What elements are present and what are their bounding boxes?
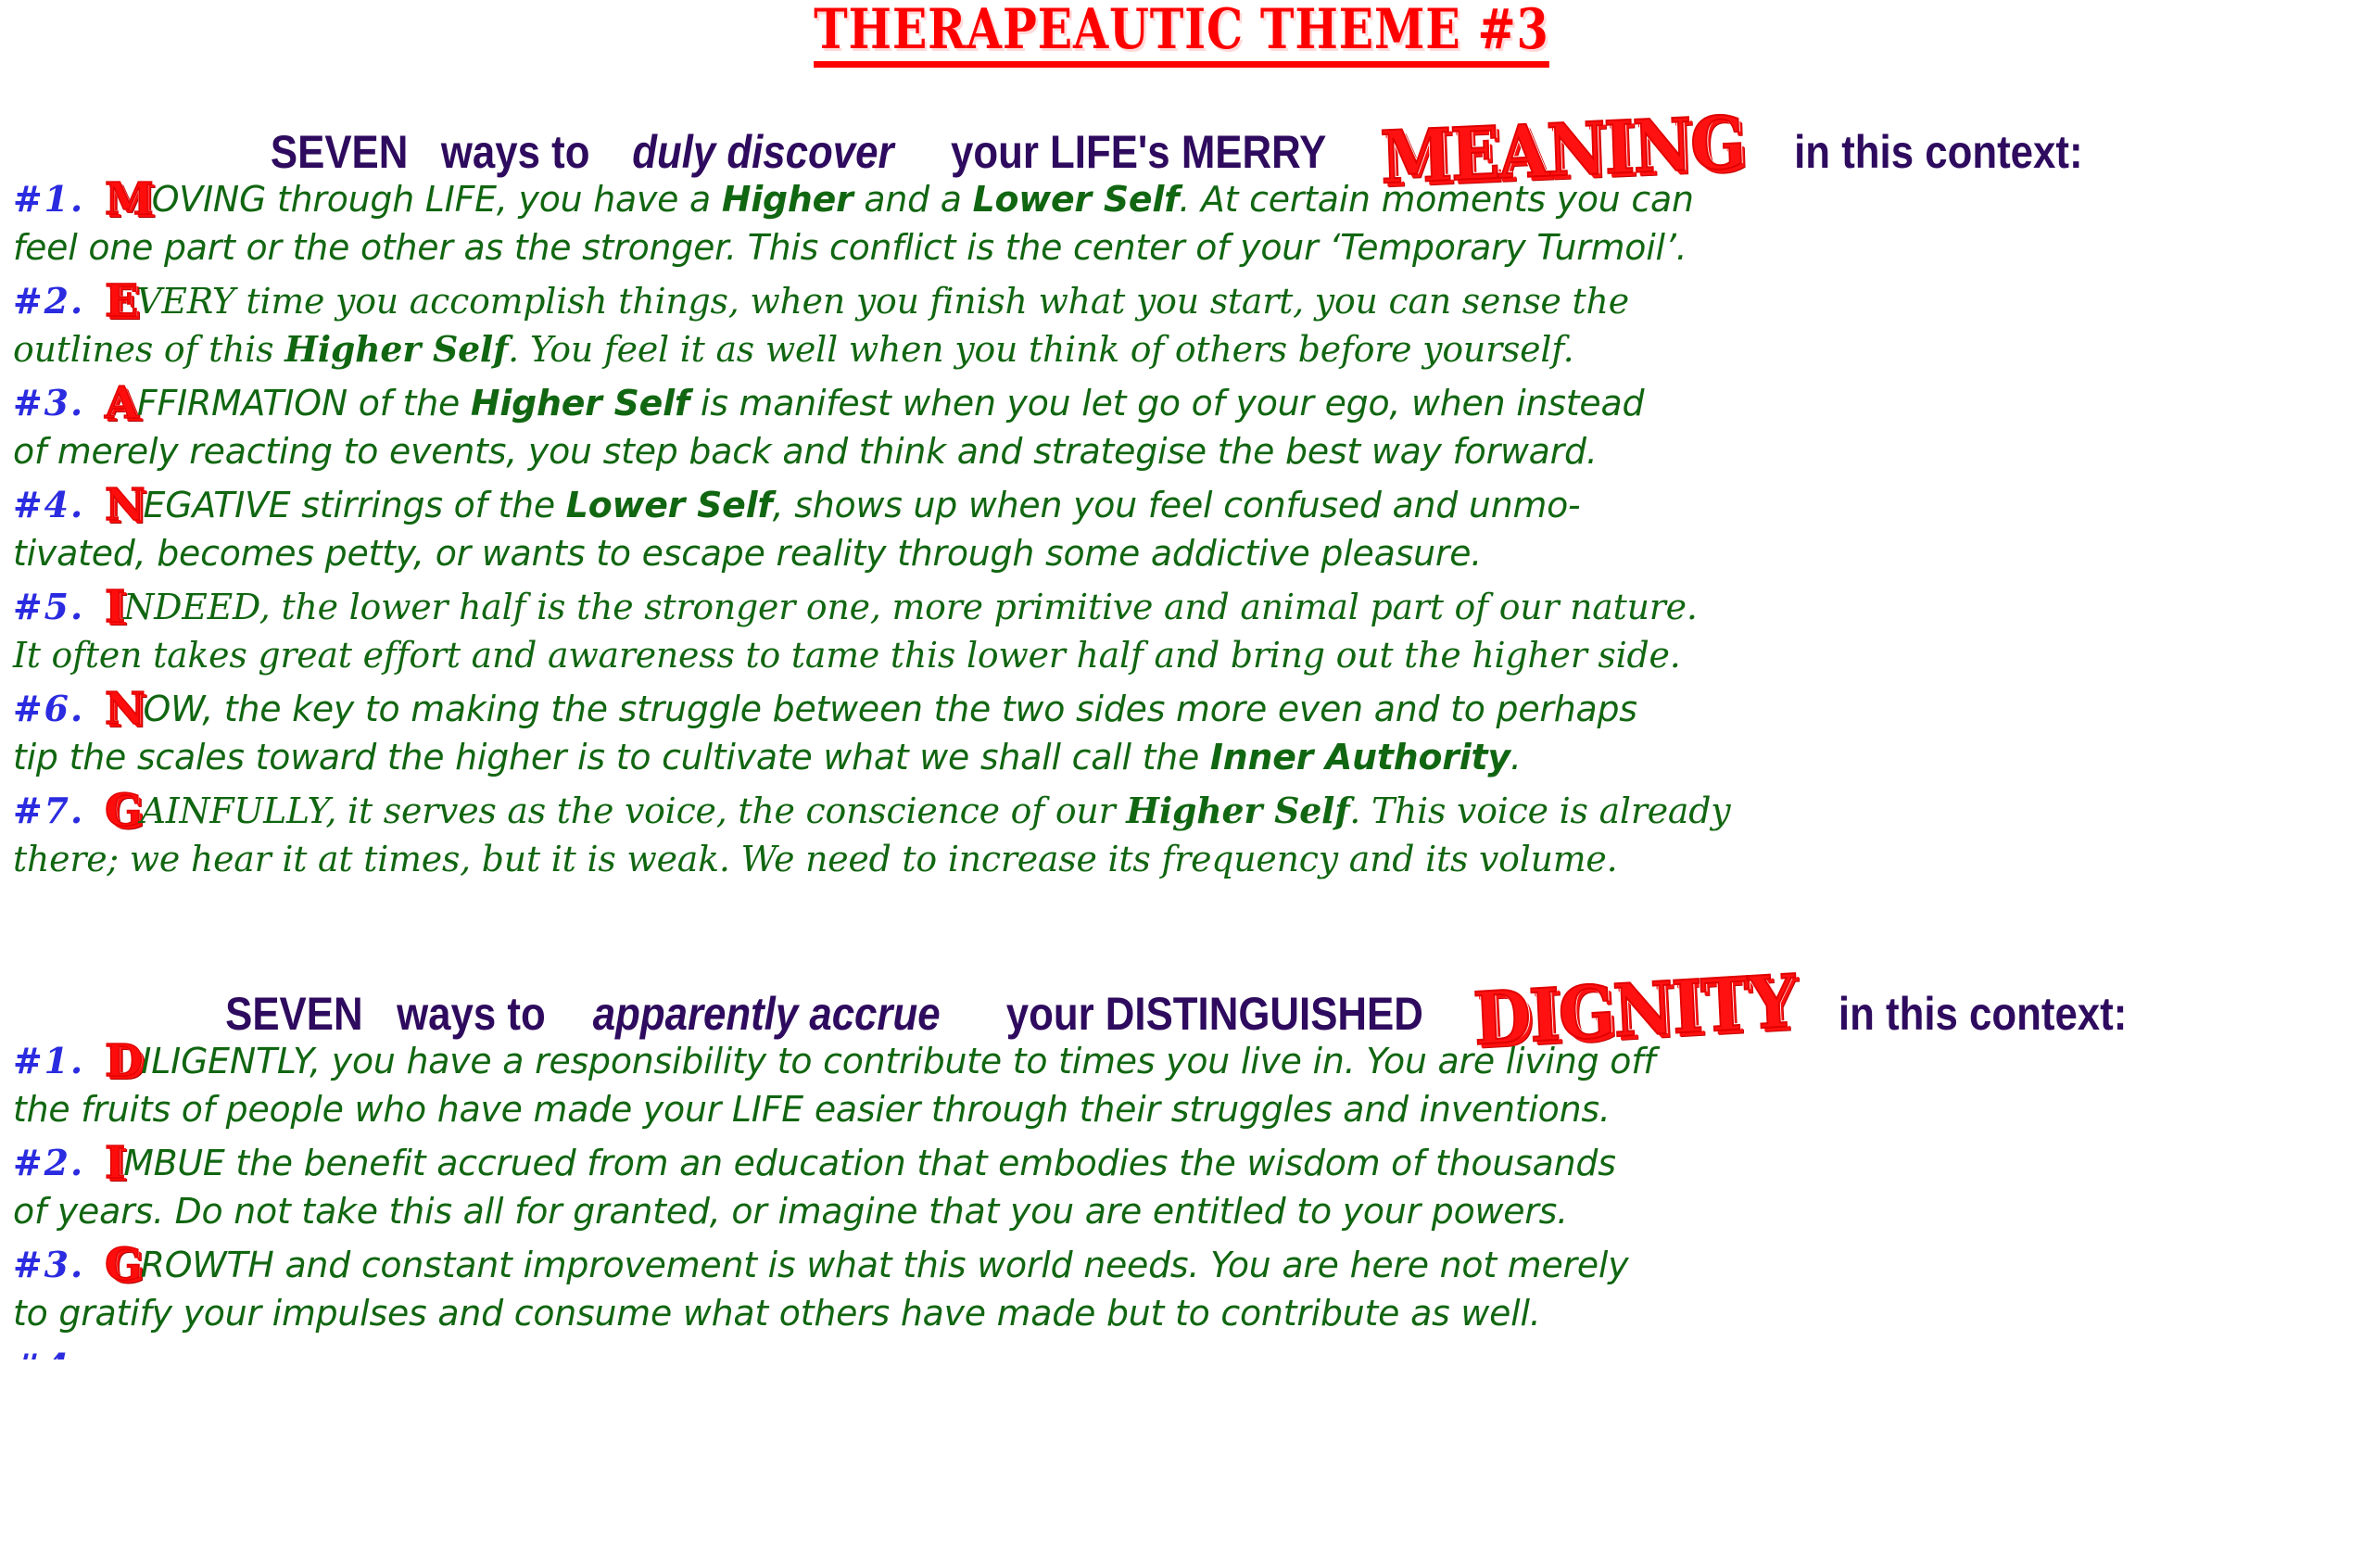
section1-heading-emphasis: duly discover (632, 129, 893, 175)
list-item-number: #5. (13, 586, 105, 627)
list-item-line: tivated, becomes petty, or wants to esca… (13, 529, 1482, 577)
list-item-line: #6.NOW, the key to making the struggle b… (13, 685, 1637, 733)
title-row: THERAPEAUTIC THEME #3 (13, 0, 2350, 68)
list-item: #1.DILIGENTLY, you have a responsibility… (13, 1037, 2350, 1133)
section2-heading: SEVEN ways to apparently accrue your DIS… (19, 952, 2344, 1037)
list-item: #4.NEGATIVE stirrings of the Lower Self,… (13, 481, 2350, 577)
list-item: #2.EVERY time you accomplish things, whe… (13, 277, 2350, 373)
emphasis: Higher Self (1126, 790, 1349, 831)
list-item-text: of merely reacting to events, you step b… (13, 431, 1598, 472)
list-item-text: FFIRMATION of the Higher Self is manifes… (137, 383, 1644, 424)
list-item-line: the fruits of people who have made your … (13, 1085, 1611, 1133)
section2-heading-part2: ways to (397, 991, 546, 1037)
list-item-dropcap: G (105, 1246, 143, 1283)
list-item-text: NDEED, the lower half is the stronger on… (123, 587, 1697, 627)
list-item-dropcap: D (105, 1043, 143, 1080)
list-item-line: #1.MOVING through LIFE, you have a Highe… (13, 175, 1694, 223)
list-item-number: #2. (13, 1142, 105, 1183)
list-item-text: there; we hear it at times, but it is we… (13, 839, 1617, 879)
emphasis: Higher Self (471, 383, 689, 424)
list-item-dropcap: N (105, 487, 145, 524)
list-item-number: #4. (13, 1346, 105, 1359)
section1-heading-part4: your LIFE's MERRY (951, 129, 1326, 175)
list-item-dropcap: E (105, 283, 138, 320)
list-item: #1.MOVING through LIFE, you have a Highe… (13, 175, 2350, 272)
list-item-text: AINFULLY, it serves as the voice, the co… (141, 790, 1731, 831)
section2-heading-emphasis: apparently accrue (593, 991, 941, 1037)
list-item-text: tivated, becomes petty, or wants to esca… (13, 533, 1482, 574)
list-item-line: #2.IMBUE the benefit accrued from an edu… (13, 1139, 1616, 1187)
poster-page: THERAPEAUTIC THEME #3 SEVEN ways to duly… (0, 0, 2363, 1568)
list-item-dropcap: G (105, 792, 143, 829)
list-item-text: It often takes great effort and awarenes… (13, 635, 1681, 676)
emphasis: Higher Self (284, 328, 508, 370)
list-item-text: VERY time you accomplish things, when yo… (136, 281, 1629, 322)
list-item-dropcap: N (105, 690, 145, 727)
list-item-text: of years. Do not take this all for grant… (13, 1191, 1568, 1232)
section1-list: #1.MOVING through LIFE, you have a Highe… (13, 175, 2350, 883)
list-item-number: #1. (13, 1040, 105, 1081)
list-item-line: #4. (13, 1343, 105, 1359)
emphasis: Higher (722, 179, 853, 220)
list-item-dropcap: I (105, 588, 125, 626)
list-item-line: #4.NEGATIVE stirrings of the Lower Self,… (13, 481, 1580, 529)
list-item-text: OVING through LIFE, you have a Higher an… (152, 179, 1694, 220)
section2-heading-part5: in this context: (1839, 991, 2127, 1037)
list-item-line: #3.AFFIRMATION of the Higher Self is man… (13, 379, 1644, 427)
list-item-line: of merely reacting to events, you step b… (13, 427, 1598, 475)
list-item-text: outlines of this Higher Self. You feel i… (13, 329, 1574, 370)
list-item-line: feel one part or the other as the strong… (13, 223, 1687, 272)
list-item-line: of years. Do not take this all for grant… (13, 1187, 1568, 1235)
list-item-line: #2.EVERY time you accomplish things, whe… (13, 277, 1629, 325)
emphasis: Lower Self (566, 485, 773, 525)
list-item-number: #6. (13, 688, 105, 729)
list-item: #6.NOW, the key to making the struggle b… (13, 685, 2350, 781)
list-item-line: #7.GAINFULLY, it serves as the voice, th… (13, 787, 1730, 835)
section-divider-space (13, 883, 2350, 915)
list-item-number: #7. (13, 790, 105, 831)
list-item-text: the fruits of people who have made your … (13, 1089, 1611, 1130)
list-item-dropcap: A (105, 385, 139, 422)
list-item-number: #4. (13, 484, 105, 525)
section1-heading: SEVEN ways to duly discover your LIFE's … (19, 90, 2344, 175)
list-item-line: #5.INDEED, the lower half is the stronge… (13, 583, 1698, 631)
list-item-line: there; we hear it at times, but it is we… (13, 835, 1617, 883)
list-item: #2.IMBUE the benefit accrued from an edu… (13, 1139, 2350, 1235)
section2-list: #1.DILIGENTLY, you have a responsibility… (13, 1037, 2350, 1359)
list-item-line: #1.DILIGENTLY, you have a responsibility… (13, 1037, 1655, 1085)
list-item-line: to gratify your impulses and consume wha… (13, 1289, 1541, 1337)
list-item: #7.GAINFULLY, it serves as the voice, th… (13, 787, 2350, 883)
emphasis: Lower Self (973, 179, 1180, 220)
list-item-text: EGATIVE stirrings of the Lower Self, sho… (144, 485, 1581, 525)
list-item-line: It often takes great effort and awarenes… (13, 631, 1681, 679)
section2-heading-part4: your DISTINGUISHED (1006, 991, 1423, 1037)
list-item: #4. (13, 1343, 2350, 1359)
list-item-number: #1. (13, 178, 105, 220)
list-item: #5.INDEED, the lower half is the stronge… (13, 583, 2350, 679)
list-item-line: outlines of this Higher Self. You feel i… (13, 325, 1574, 373)
section1-heading-part2: ways to (441, 129, 590, 175)
list-item-number: #2. (13, 280, 105, 322)
list-item-line: #3.GROWTH and constant improvement is wh… (13, 1241, 1628, 1289)
list-item-line: tip the scales toward the higher is to c… (13, 733, 1522, 781)
list-item-dropcap: I (105, 1144, 125, 1182)
section1-heading-part5: in this context: (1794, 129, 2082, 175)
section2-heading-part1: SEVEN (225, 991, 362, 1037)
list-item-text: OW, the key to making the struggle betwe… (144, 689, 1637, 729)
list-item-text: to gratify your impulses and consume wha… (13, 1293, 1541, 1334)
emphasis: Inner Authority (1210, 737, 1510, 778)
list-item-text: feel one part or the other as the strong… (13, 227, 1687, 268)
list-item-text: ILIGENTLY, you have a responsibility to … (141, 1041, 1655, 1081)
page-title: THERAPEAUTIC THEME #3 (814, 2, 1549, 68)
list-item: #3.AFFIRMATION of the Higher Self is man… (13, 379, 2350, 475)
list-item-dropcap: M (105, 181, 154, 218)
section1-heading-part1: SEVEN (271, 129, 408, 175)
list-item-text: tip the scales toward the higher is to c… (13, 737, 1522, 778)
list-item-number: #3. (13, 382, 105, 424)
list-item-number: #3. (13, 1244, 105, 1285)
list-item-text: ROWTH and constant improvement is what t… (141, 1245, 1629, 1285)
list-item-text: MBUE the benefit accrued from an educati… (123, 1143, 1615, 1183)
list-item: #3.GROWTH and constant improvement is wh… (13, 1241, 2350, 1337)
